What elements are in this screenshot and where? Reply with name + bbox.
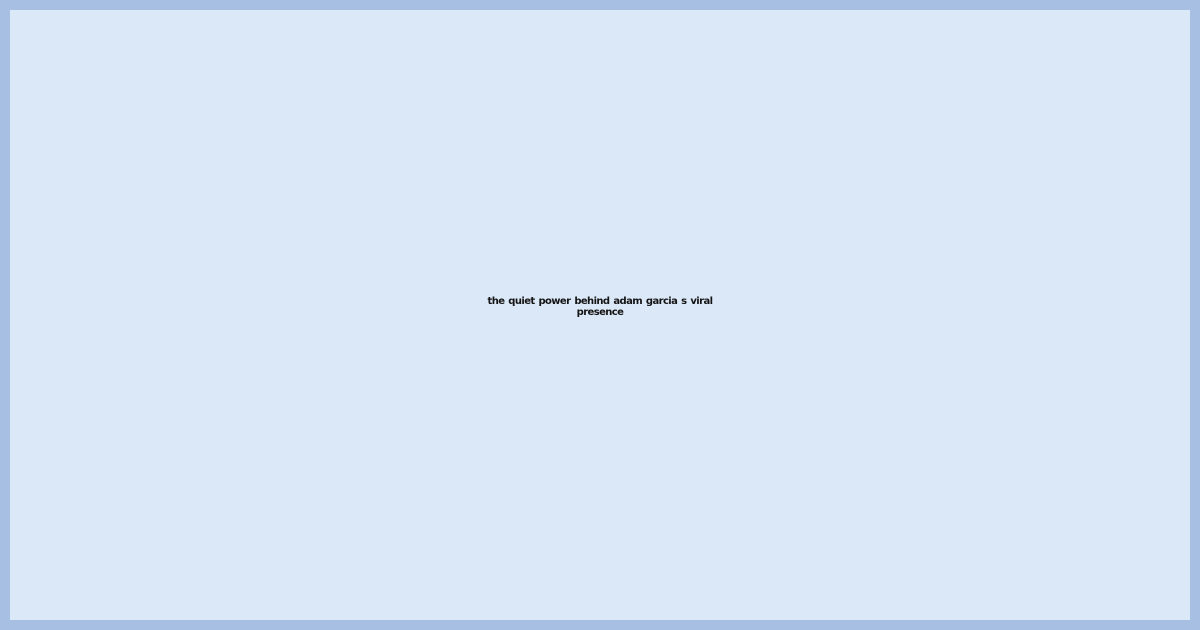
page-title: the quiet power behind adam garcia s vir… <box>20 296 1180 319</box>
headline-block: the quiet power behind adam garcia s vir… <box>20 296 1180 319</box>
headline-line-1: the quiet power behind adam garcia s vir… <box>20 296 1180 308</box>
card-canvas: the quiet power behind adam garcia s vir… <box>10 10 1190 620</box>
social-share-card: the quiet power behind adam garcia s vir… <box>0 0 1200 630</box>
headline-line-2: presence <box>20 307 1180 319</box>
